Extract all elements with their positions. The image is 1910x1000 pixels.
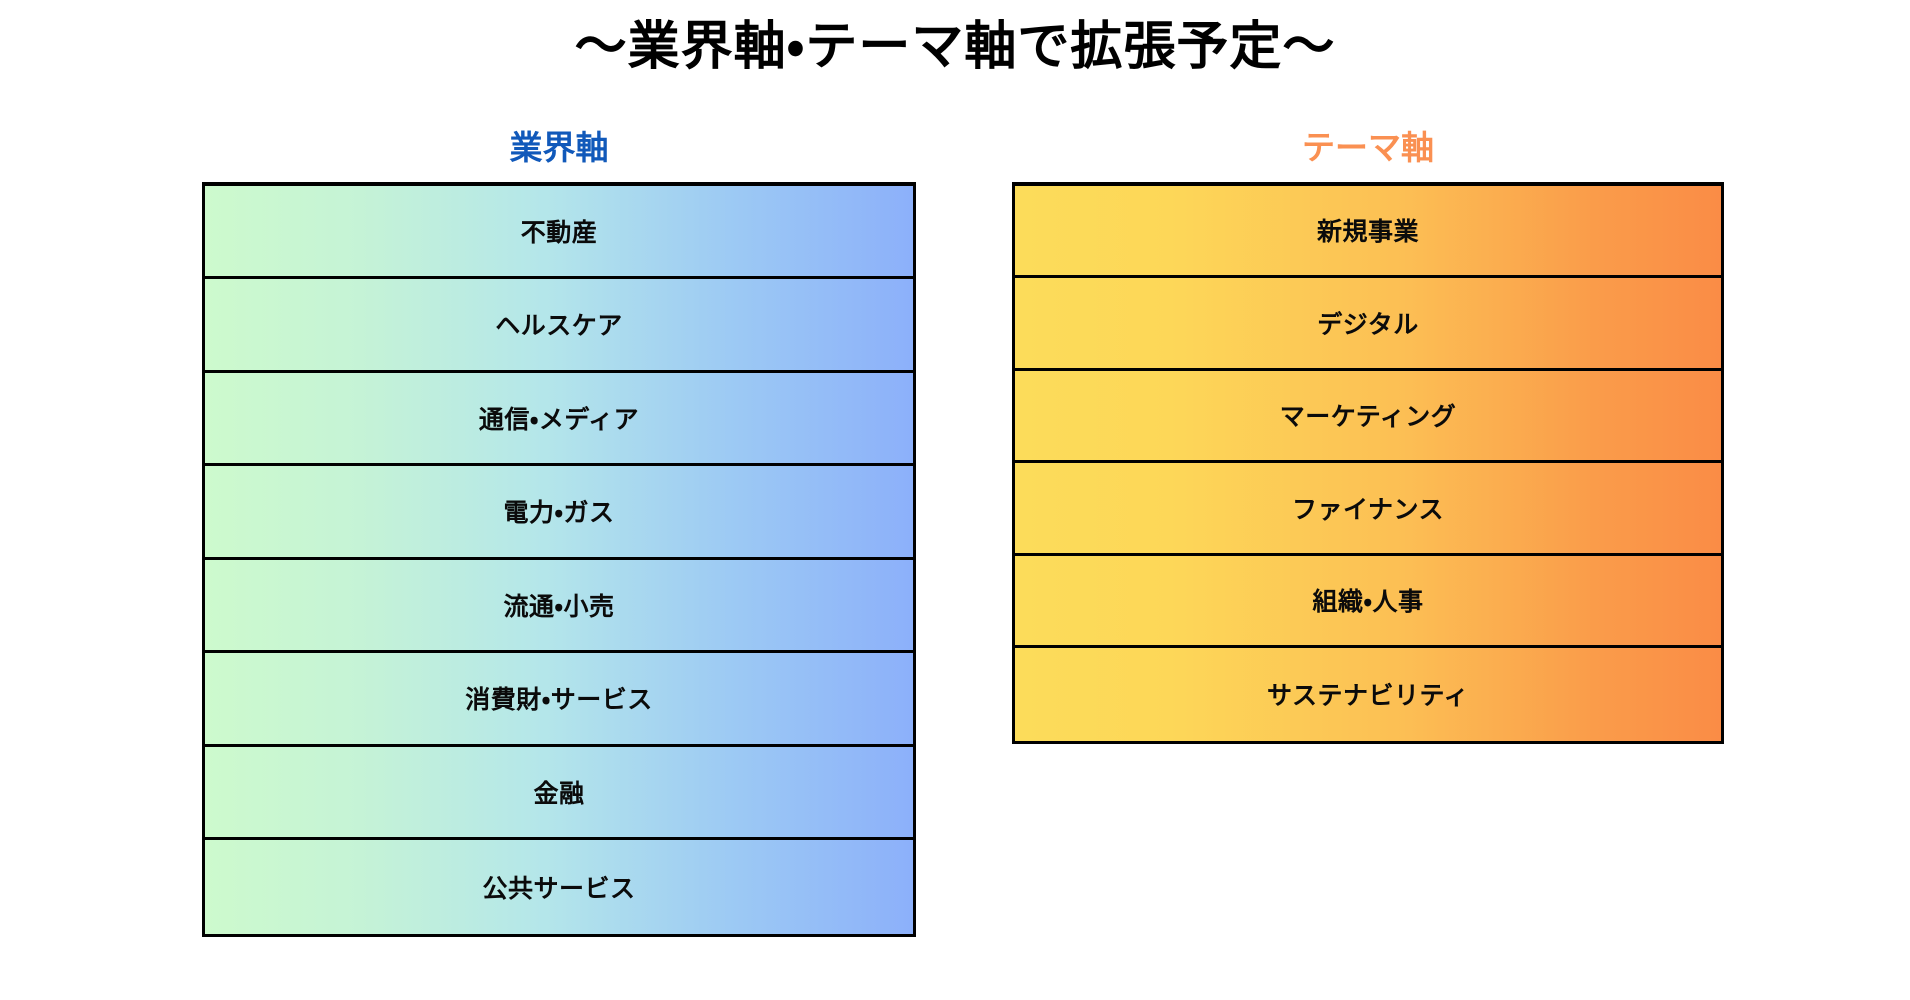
- theme-axis-column: テーマ軸 新規事業 デジタル マーケティング ファイナンス 組織・人事 サステナ…: [1012, 128, 1724, 744]
- table-row[interactable]: 電力・ガス: [205, 466, 913, 560]
- industry-axis-table: 不動産 ヘルスケア 通信・メディア 電力・ガス 流通・小売 消費財・サービス 金…: [202, 182, 916, 937]
- table-row[interactable]: 新規事業: [1015, 186, 1721, 279]
- table-row[interactable]: デジタル: [1015, 278, 1721, 371]
- table-row[interactable]: マーケティング: [1015, 371, 1721, 464]
- industry-axis-column: 業界軸 不動産 ヘルスケア 通信・メディア 電力・ガス 流通・小売 消費財・サー…: [202, 128, 916, 937]
- table-row[interactable]: 流通・小売: [205, 560, 913, 654]
- axis-columns-container: 業界軸 不動産 ヘルスケア 通信・メディア 電力・ガス 流通・小売 消費財・サー…: [0, 0, 1910, 1000]
- table-row[interactable]: 公共サービス: [205, 840, 913, 934]
- table-row[interactable]: 通信・メディア: [205, 373, 913, 467]
- table-row[interactable]: ヘルスケア: [205, 279, 913, 373]
- table-row[interactable]: 消費財・サービス: [205, 653, 913, 747]
- theme-axis-table: 新規事業 デジタル マーケティング ファイナンス 組織・人事 サステナビリティ: [1012, 182, 1724, 744]
- industry-axis-header: 業界軸: [202, 128, 916, 168]
- table-row[interactable]: 金融: [205, 747, 913, 841]
- table-row[interactable]: ファイナンス: [1015, 463, 1721, 556]
- table-row[interactable]: サステナビリティ: [1015, 648, 1721, 741]
- theme-axis-header: テーマ軸: [1012, 128, 1724, 168]
- table-row[interactable]: 組織・人事: [1015, 556, 1721, 649]
- table-row[interactable]: 不動産: [205, 186, 913, 280]
- slide-root: 〜業界軸・テーマ軸で拡張予定〜 業界軸 不動産 ヘルスケア 通信・メディア 電力…: [0, 0, 1910, 1000]
